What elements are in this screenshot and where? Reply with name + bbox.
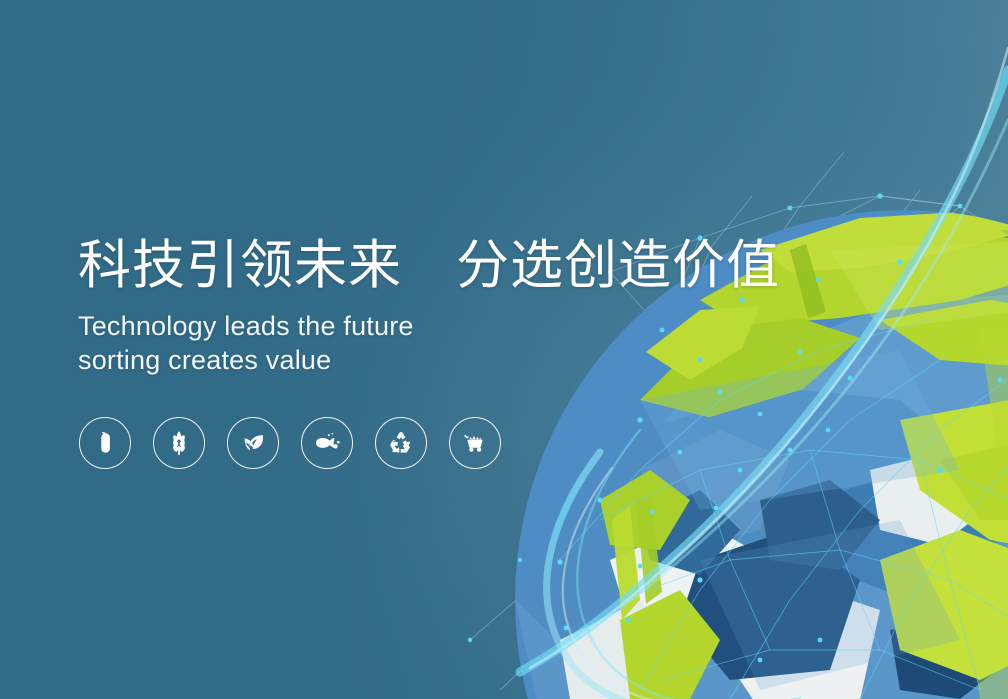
page-subtitle-line-1: Technology leads the future [78, 309, 780, 343]
page-title: 科技引领未来 分选创造价值 [78, 236, 780, 295]
mining-cart-glyph [459, 427, 491, 459]
page-subtitle: Technology leads the future sorting crea… [78, 309, 780, 377]
page-subtitle-line-2: sorting creates value [78, 343, 780, 377]
recycle-glyph [386, 428, 416, 458]
wheat-icon[interactable] [153, 417, 205, 469]
hero-copy: 科技引领未来 分选创造价值 Technology leads the futur… [78, 236, 780, 377]
fish-icon[interactable] [301, 417, 353, 469]
recycle-icon[interactable] [375, 417, 427, 469]
wheat-glyph [164, 428, 194, 458]
industry-icon-row [79, 417, 501, 469]
leaf-glyph [237, 427, 269, 459]
hero-banner: 科技引领未来 分选创造价值 Technology leads the futur… [0, 0, 1008, 699]
network-mesh [470, 152, 1008, 698]
fish-glyph [311, 427, 343, 459]
tea-leaf-icon[interactable] [227, 417, 279, 469]
mining-cart-icon[interactable] [449, 417, 501, 469]
rice-grain-icon[interactable] [79, 417, 131, 469]
rice-grain-glyph [90, 428, 120, 458]
